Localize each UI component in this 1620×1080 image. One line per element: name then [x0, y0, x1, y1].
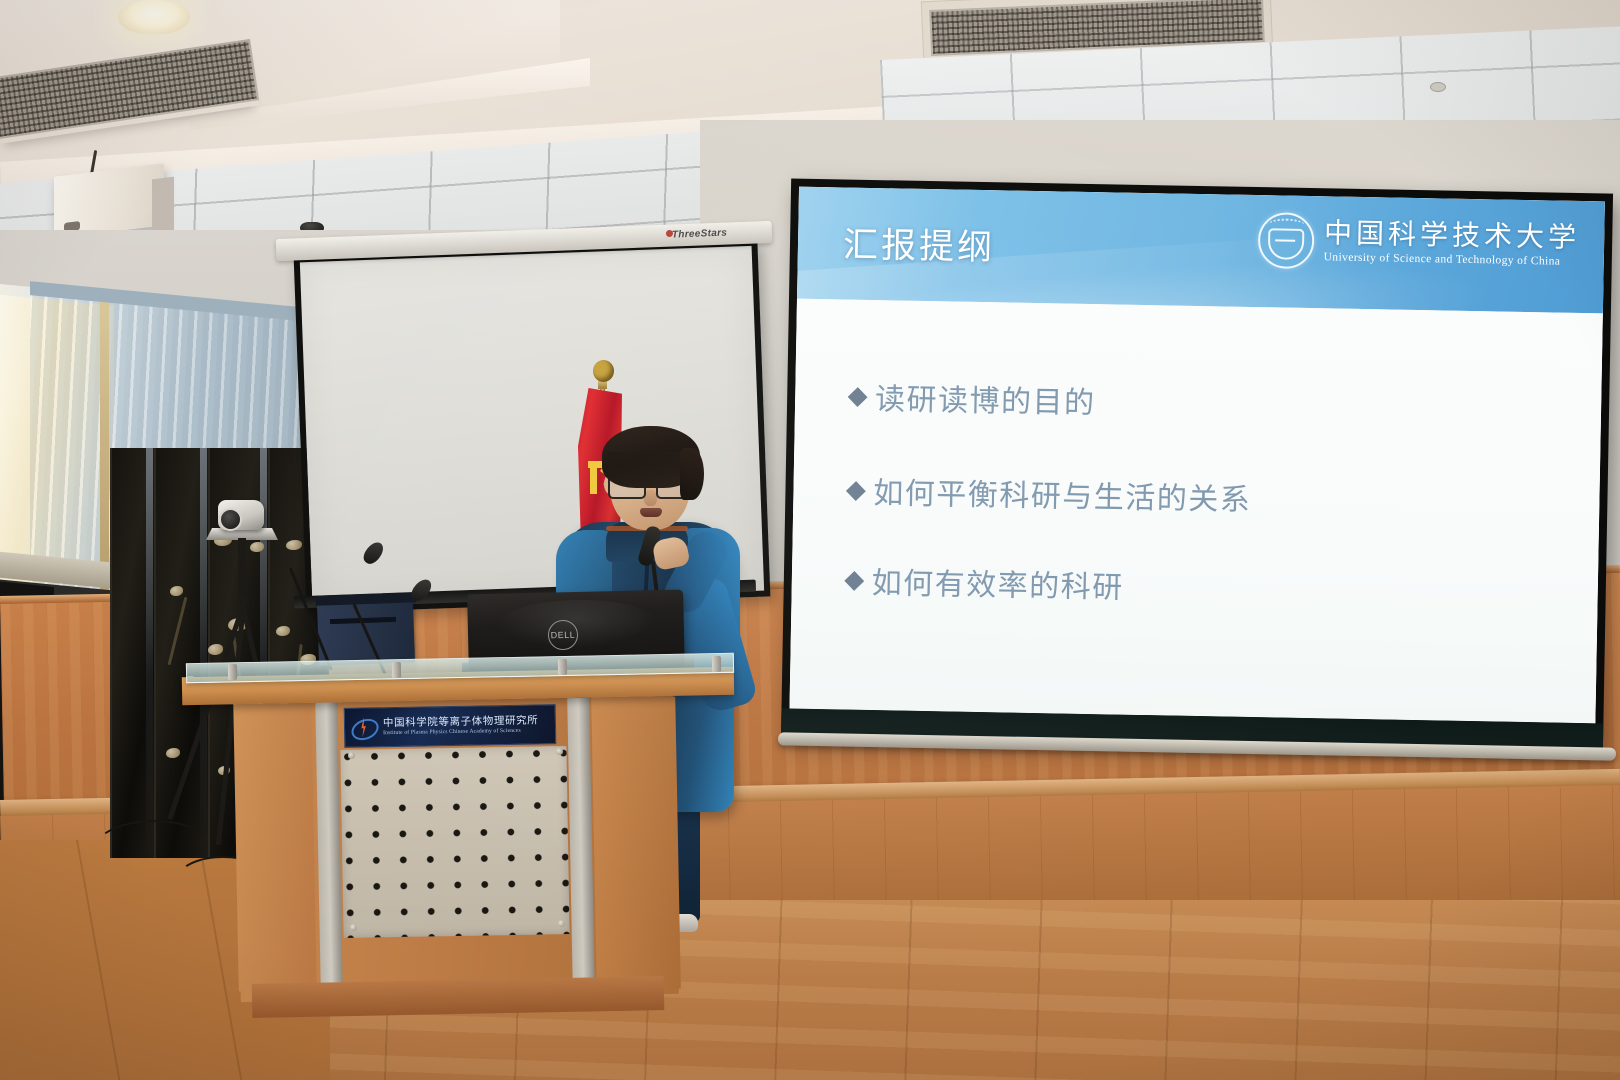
- glass-shelf-post: [392, 662, 401, 678]
- logo-text-block: 中国科学技术大学 University of Science and Techn…: [1324, 217, 1581, 269]
- camera-lens-icon: [219, 508, 242, 531]
- ustc-seal-icon: [1257, 212, 1314, 269]
- slide-header-band: 汇报提纲 中国科学技术大学 University of Science and …: [797, 187, 1605, 314]
- bullet-text: 读研读博的目的: [875, 374, 1096, 422]
- seal-arc-text: [1267, 218, 1305, 233]
- presentation-slide: 汇报提纲 中国科学技术大学 University of Science and …: [789, 187, 1604, 724]
- slide-surface: 汇报提纲 中国科学技术大学 University of Science and …: [789, 187, 1604, 724]
- podium-left-panel: [233, 699, 317, 992]
- screen-brand-label: ThreeStars: [672, 226, 759, 245]
- ceiling-light-icon: [118, 0, 190, 34]
- presenter-hair-side: [680, 448, 704, 500]
- slide-title: 汇报提纲: [843, 217, 996, 271]
- slide-bullet-3: ◆ 如何有效率的科研: [844, 558, 1124, 607]
- glass-shelf-post: [558, 659, 567, 675]
- panel-screw: [558, 920, 565, 927]
- glass-shelf-post: [228, 664, 237, 680]
- bullet-marker-icon: ◆: [847, 381, 869, 411]
- slide-bullet-1: ◆ 读研读博的目的: [847, 374, 1096, 423]
- logo-name-en: University of Science and Technology of …: [1324, 252, 1580, 270]
- institute-plaque: 中国科学院等离子体物理研究所 Institute of Plasma Physi…: [344, 704, 557, 748]
- slide-body: ◆ 读研读博的目的 ◆ 如何平衡科研与生活的关系 ◆ 如何有效率的科研: [789, 299, 1602, 723]
- panel-screw: [348, 752, 355, 759]
- university-logo: 中国科学技术大学 University of Science and Techn…: [1257, 212, 1580, 274]
- panel-screw: [350, 924, 357, 931]
- bullet-marker-icon: ◆: [846, 475, 868, 505]
- swirl-ring: [348, 715, 381, 744]
- flag-finial-icon: [593, 360, 614, 382]
- glass-shelf-post: [712, 656, 721, 672]
- podium-perforated-panel: [340, 746, 569, 938]
- bullet-text: 如何平衡科研与生活的关系: [873, 468, 1252, 519]
- panel-screw: [556, 748, 563, 755]
- presenter-mouth: [640, 508, 662, 517]
- plaque-text-block: 中国科学院等离子体物理研究所 Institute of Plasma Physi…: [383, 715, 539, 736]
- tripod-icon: [238, 538, 246, 600]
- projection-screen-main[interactable]: 汇报提纲 中国科学技术大学 University of Science and …: [781, 179, 1613, 754]
- lecture-hall-photo: ThreeStars 汇报提纲: [0, 0, 1620, 1080]
- plaque-name-en: Institute of Plasma Physics Chinese Acad…: [383, 728, 538, 737]
- logo-name-cn: 中国科学技术大学: [1324, 217, 1581, 254]
- ipp-swirl-icon: [351, 715, 377, 739]
- podium-right-panel: [591, 695, 681, 988]
- slide-bullet-2: ◆ 如何平衡科研与生活的关系: [845, 468, 1251, 519]
- bullet-marker-icon: ◆: [844, 565, 866, 595]
- dell-logo-text: DELL: [551, 630, 576, 641]
- ceiling-speaker-icon: [1430, 82, 1446, 92]
- bullet-text: 如何有效率的科研: [871, 558, 1124, 607]
